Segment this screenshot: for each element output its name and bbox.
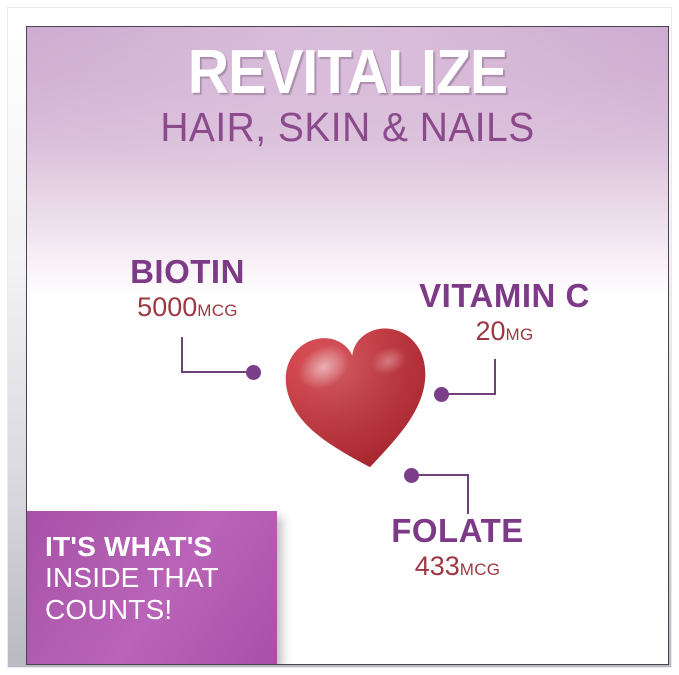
callout-dose: 20MG <box>372 316 637 346</box>
leader-segment-vertical <box>181 337 183 373</box>
page-title: REVITALIZE <box>53 41 643 104</box>
callout-folate: FOLATE 433MCG <box>345 514 570 581</box>
leader-segment-horizontal <box>181 371 253 373</box>
leader-dot-vitamin-c <box>434 387 449 402</box>
tagline-line-2: INSIDE THAT <box>45 562 263 593</box>
leader-segment-vertical <box>494 359 496 395</box>
tagline-line-1: IT'S WHAT'S <box>45 531 263 562</box>
callout-dose-amount: 20 <box>475 316 505 346</box>
header-block: REVITALIZE HAIR, SKIN & NAILS <box>27 41 668 149</box>
page-subtitle: HAIR, SKIN & NAILS <box>43 106 652 149</box>
tagline-line-3: COUNTS! <box>45 594 263 625</box>
callout-biotin: BIOTIN 5000MCG <box>95 255 280 322</box>
leader-segment-vertical <box>467 474 469 514</box>
callout-dose: 5000MCG <box>95 292 280 322</box>
callout-dose-amount: 5000 <box>137 292 197 322</box>
callout-dose-amount: 433 <box>415 551 460 581</box>
product-infographic: REVITALIZE HAIR, SKIN & NAILS <box>0 0 679 675</box>
tagline-badge: IT'S WHAT'S INSIDE THAT COUNTS! <box>26 511 277 664</box>
callout-dose-unit: MCG <box>197 301 238 320</box>
poster-frame-inner: REVITALIZE HAIR, SKIN & NAILS <box>26 26 669 665</box>
leader-dot-folate <box>404 468 419 483</box>
callout-nutrient-name: BIOTIN <box>95 255 280 288</box>
callout-nutrient-name: FOLATE <box>345 514 570 547</box>
callout-dose-unit: MCG <box>460 560 501 579</box>
callout-vitamin-c: VITAMIN C 20MG <box>372 279 637 346</box>
leader-segment-horizontal <box>443 393 496 395</box>
leader-dot-biotin <box>246 365 261 380</box>
leader-segment-horizontal <box>419 474 469 476</box>
callout-nutrient-name: VITAMIN C <box>372 279 637 312</box>
callout-dose: 433MCG <box>345 551 570 581</box>
poster-frame-outer: REVITALIZE HAIR, SKIN & NAILS <box>7 7 672 668</box>
callout-dose-unit: MG <box>506 325 534 344</box>
